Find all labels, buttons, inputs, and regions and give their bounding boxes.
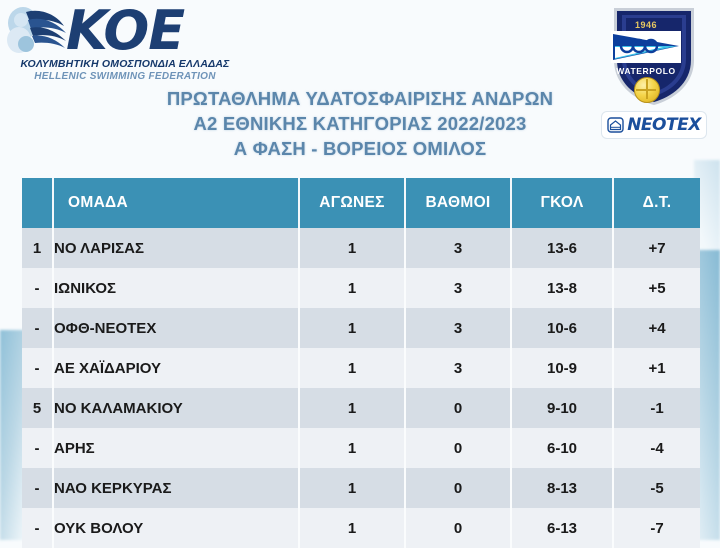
column-header-games: ΑΓΩΝΕΣ bbox=[299, 178, 405, 228]
cell-diff: -5 bbox=[613, 468, 700, 508]
cell-rank: - bbox=[22, 348, 53, 388]
cell-diff: -4 bbox=[613, 428, 700, 468]
cell-team: ΝΑΟ ΚΕΡΚΥΡΑΣ bbox=[53, 468, 299, 508]
column-header-points: ΒΑΘΜΟΙ bbox=[405, 178, 511, 228]
cell-games: 1 bbox=[299, 508, 405, 548]
table-head: ΟΜΑΔΑ ΑΓΩΝΕΣ ΒΑΘΜΟΙ ΓΚΟΛ Δ.Τ. bbox=[22, 178, 700, 228]
cell-games: 1 bbox=[299, 428, 405, 468]
cell-diff: -1 bbox=[613, 388, 700, 428]
club-pennant-flag bbox=[611, 31, 681, 63]
cell-games: 1 bbox=[299, 388, 405, 428]
cell-rank: - bbox=[22, 308, 53, 348]
cell-points: 3 bbox=[405, 268, 511, 308]
cell-points: 3 bbox=[405, 308, 511, 348]
cell-rank: - bbox=[22, 268, 53, 308]
cell-team: ΙΩΝΙΚΟΣ bbox=[53, 268, 299, 308]
cell-games: 1 bbox=[299, 308, 405, 348]
table-row: -ΑΕ ΧΑΪΔΑΡΙΟΥ1310-9+1 bbox=[22, 348, 700, 388]
cell-diff: +5 bbox=[613, 268, 700, 308]
column-header-diff: Δ.Τ. bbox=[613, 178, 700, 228]
title-line-1: ΠΡΩΤΑΘΛΗΜΑ ΥΔΑΤΟΣΦΑΙΡΙΣΗΣ ΑΝΔΡΩΝ bbox=[0, 86, 720, 111]
cell-rank: 1 bbox=[22, 228, 53, 268]
cell-team: ΟΦΘ-ΝΕΟΤΕΧ bbox=[53, 308, 299, 348]
swimmer-wave-icon bbox=[6, 6, 70, 58]
table-row: -ΑΡΗΣ106-10-4 bbox=[22, 428, 700, 468]
title-line-2: Α2 ΕΘΝΙΚΗΣ ΚΑΤΗΓΟΡΙΑΣ 2022/2023 bbox=[0, 111, 720, 136]
title-line-3: Α ΦΑΣΗ - ΒΟΡΕΙΟΣ ΟΜΙΛΟΣ bbox=[0, 136, 720, 161]
pennant-icon bbox=[611, 31, 681, 63]
cell-points: 0 bbox=[405, 388, 511, 428]
slide-canvas: KOE ΚΟΛΥΜΒΗΤΙΚΗ ΟΜΟΣΠΟΝΔΙΑ ΕΛΛΑΔΑΣ HELLE… bbox=[0, 0, 720, 540]
cell-points: 3 bbox=[405, 228, 511, 268]
cell-team: ΝΟ ΚΑΛΑΜΑΚΙΟΥ bbox=[53, 388, 299, 428]
table-row: -ΟΦΘ-ΝΕΟΤΕΧ1310-6+4 bbox=[22, 308, 700, 348]
cell-diff: +4 bbox=[613, 308, 700, 348]
federation-name-gr: ΚΟΛΥΜΒΗΤΙΚΗ ΟΜΟΣΠΟΝΔΙΑ ΕΛΛΑΔΑΣ bbox=[10, 58, 240, 70]
cell-diff: +7 bbox=[613, 228, 700, 268]
cell-rank: - bbox=[22, 428, 53, 468]
cell-rank: - bbox=[22, 468, 53, 508]
table-row: -ΙΩΝΙΚΟΣ1313-8+5 bbox=[22, 268, 700, 308]
column-header-goals: ΓΚΟΛ bbox=[511, 178, 613, 228]
cell-diff: -7 bbox=[613, 508, 700, 548]
cell-team: ΝΟ ΛΑΡΙΣΑΣ bbox=[53, 228, 299, 268]
table-body: 1ΝΟ ΛΑΡΙΣΑΣ1313-6+7-ΙΩΝΙΚΟΣ1313-8+5-ΟΦΘ-… bbox=[22, 228, 700, 548]
cell-points: 3 bbox=[405, 348, 511, 388]
column-header-team: ΟΜΑΔΑ bbox=[53, 178, 299, 228]
column-header-rank bbox=[22, 178, 53, 228]
cell-games: 1 bbox=[299, 348, 405, 388]
table-row: -ΟΥΚ ΒΟΛΟΥ106-13-7 bbox=[22, 508, 700, 548]
club-founded-year: 1946 bbox=[602, 20, 690, 30]
page-title: ΠΡΩΤΑΘΛΗΜΑ ΥΔΑΤΟΣΦΑΙΡΙΣΗΣ ΑΝΔΡΩΝ Α2 ΕΘΝΙ… bbox=[0, 86, 720, 161]
federation-name-en: HELLENIC SWIMMING FEDERATION bbox=[10, 71, 240, 82]
cell-goals: 8-13 bbox=[511, 468, 613, 508]
club-sport-label: WATERPOLO bbox=[602, 66, 690, 76]
table-header-row: ΟΜΑΔΑ ΑΓΩΝΕΣ ΒΑΘΜΟΙ ΓΚΟΛ Δ.Τ. bbox=[22, 178, 700, 228]
standings-table: ΟΜΑΔΑ ΑΓΩΝΕΣ ΒΑΘΜΟΙ ΓΚΟΛ Δ.Τ. 1ΝΟ ΛΑΡΙΣΑ… bbox=[22, 178, 700, 548]
cell-points: 0 bbox=[405, 428, 511, 468]
cell-points: 0 bbox=[405, 508, 511, 548]
cell-diff: +1 bbox=[613, 348, 700, 388]
cell-rank: - bbox=[22, 508, 53, 548]
table-row: -ΝΑΟ ΚΕΡΚΥΡΑΣ108-13-5 bbox=[22, 468, 700, 508]
cell-rank: 5 bbox=[22, 388, 53, 428]
cell-team: ΑΕ ΧΑΪΔΑΡΙΟΥ bbox=[53, 348, 299, 388]
federation-acronym: KOE bbox=[66, 4, 184, 58]
cell-team: ΟΥΚ ΒΟΛΟΥ bbox=[53, 508, 299, 548]
cell-goals: 10-6 bbox=[511, 308, 613, 348]
cell-games: 1 bbox=[299, 468, 405, 508]
cell-goals: 13-6 bbox=[511, 228, 613, 268]
cell-goals: 10-9 bbox=[511, 348, 613, 388]
cell-goals: 6-13 bbox=[511, 508, 613, 548]
cell-goals: 13-8 bbox=[511, 268, 613, 308]
cell-games: 1 bbox=[299, 268, 405, 308]
federation-logo: KOE ΚΟΛΥΜΒΗΤΙΚΗ ΟΜΟΣΠΟΝΔΙΑ ΕΛΛΑΔΑΣ HELLE… bbox=[4, 4, 244, 82]
cell-team: ΑΡΗΣ bbox=[53, 428, 299, 468]
cell-goals: 9-10 bbox=[511, 388, 613, 428]
table-row: 1ΝΟ ΛΑΡΙΣΑΣ1313-6+7 bbox=[22, 228, 700, 268]
cell-points: 0 bbox=[405, 468, 511, 508]
table-row: 5ΝΟ ΚΑΛΑΜΑΚΙΟΥ109-10-1 bbox=[22, 388, 700, 428]
cell-games: 1 bbox=[299, 228, 405, 268]
cell-goals: 6-10 bbox=[511, 428, 613, 468]
